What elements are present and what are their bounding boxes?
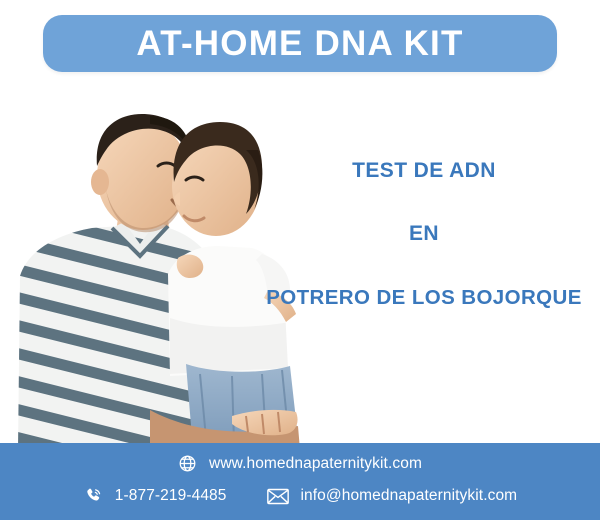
phone-icon <box>83 486 103 506</box>
email-item[interactable]: info@homednapaternitykit.com <box>267 488 518 505</box>
website-item[interactable]: www.homednapaternitykit.com <box>178 454 422 473</box>
phone-item[interactable]: 1-877-219-4485 <box>83 486 227 506</box>
globe-icon <box>178 454 197 473</box>
headline-block: TEST DE ADN EN POTRERO DE LOS BOJORQUE <box>248 160 600 309</box>
headline-line-1: TEST DE ADN <box>248 160 600 181</box>
envelope-icon <box>267 488 289 505</box>
title-banner-text: AT-HOME DNA KIT <box>136 26 463 61</box>
website-label: www.homednapaternitykit.com <box>209 456 422 472</box>
footer-row-phone-email: 1-877-219-4485 info@homednapaternitykit.… <box>0 486 600 506</box>
title-banner: AT-HOME DNA KIT <box>43 15 557 72</box>
email-label: info@homednapaternitykit.com <box>301 488 518 504</box>
promo-poster: AT-HOME DNA KIT <box>0 0 600 520</box>
footer-contact-bar: www.homednapaternitykit.com 1-877-219-44… <box>0 443 600 520</box>
headline-line-2: EN <box>248 223 600 244</box>
phone-label: 1-877-219-4485 <box>115 488 227 504</box>
footer-row-website: www.homednapaternitykit.com <box>0 454 600 473</box>
headline-line-3: POTRERO DE LOS BOJORQUE <box>248 288 600 309</box>
